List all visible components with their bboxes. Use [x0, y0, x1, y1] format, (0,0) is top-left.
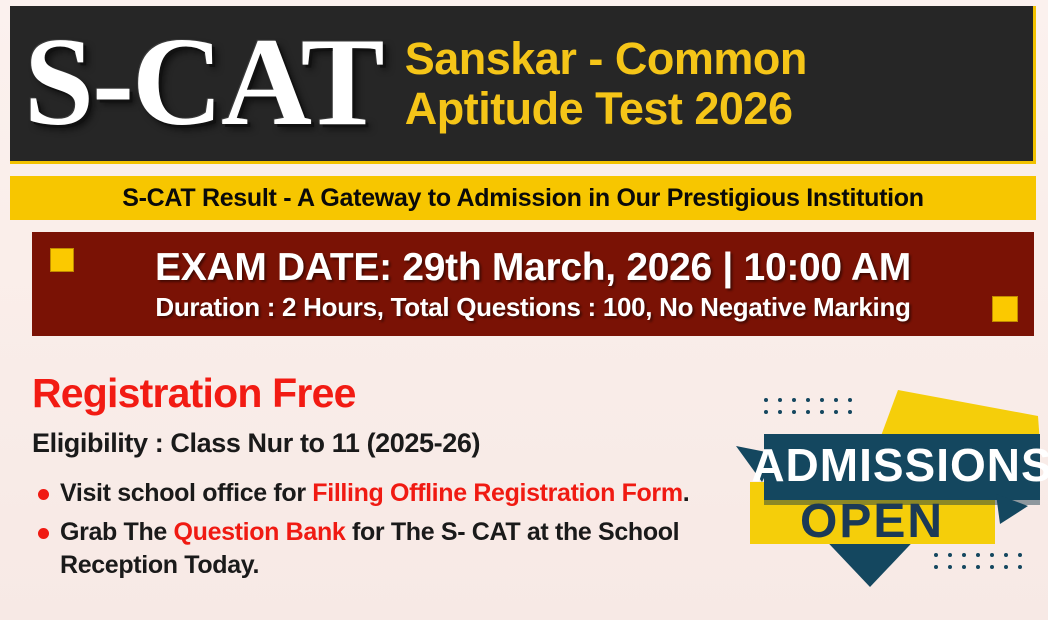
bullet-text-before: Visit school office for: [60, 479, 312, 507]
bullet-text-before: Grab The: [60, 518, 174, 546]
banner-header: S-CAT Sanskar - Common Aptitude Test 202…: [10, 6, 1036, 164]
bullet-text-highlight: Filling Offline Registration Form: [312, 479, 682, 507]
dot-grid-top-left: [764, 398, 852, 414]
bullet-text-highlight: Question Bank: [174, 518, 346, 546]
promo-banner: S-CAT Sanskar - Common Aptitude Test 202…: [0, 0, 1048, 620]
badge-line2-text: OPEN: [800, 495, 944, 548]
bullet-text-after: .: [683, 479, 690, 507]
header-title-line2: Aptitude Test 2026: [405, 84, 1021, 134]
dot-grid-bottom-right: [934, 553, 1022, 569]
eligibility-text: Eligibility : Class Nur to 11 (2025-26): [32, 429, 732, 459]
header-title: Sanskar - Common Aptitude Test 2026: [383, 34, 1033, 133]
list-item: Visit school office for Filling Offline …: [32, 477, 732, 510]
bullet-dot-icon: [38, 489, 49, 500]
registration-free-heading: Registration Free: [32, 372, 732, 415]
scat-logo: S-CAT: [10, 24, 383, 142]
exam-details-text: Duration : 2 Hours, Total Questions : 10…: [155, 292, 910, 323]
exam-info-block: EXAM DATE: 29th March, 2026 | 10:00 AM D…: [32, 232, 1034, 336]
header-title-line1: Sanskar - Common: [405, 33, 807, 84]
registration-content: Registration Free Eligibility : Class Nu…: [32, 372, 732, 588]
badge-line1-text: ADMISSIONS: [751, 439, 1048, 491]
exam-date-text: EXAM DATE: 29th March, 2026 | 10:00 AM: [155, 246, 911, 290]
decorative-square-top-left: [50, 248, 74, 272]
decorative-square-bottom-right: [992, 296, 1018, 322]
tagline-bar: S-CAT Result - A Gateway to Admission in…: [10, 176, 1036, 220]
tagline-text: S-CAT Result - A Gateway to Admission in…: [122, 184, 923, 213]
bullet-dot-icon: [38, 528, 49, 539]
admissions-open-badge: ADMISSIONS OPEN: [728, 372, 1048, 620]
instruction-list: Visit school office for Filling Offline …: [32, 477, 732, 582]
list-item: Grab The Question Bank for The S- CAT at…: [32, 516, 732, 582]
